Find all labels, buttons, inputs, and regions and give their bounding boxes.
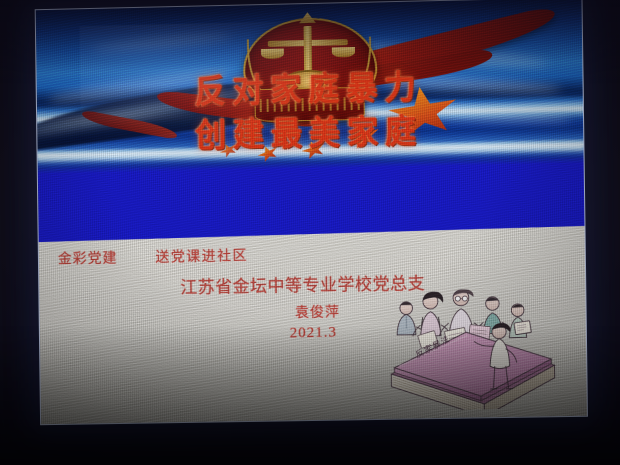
slide-surface: 反对家庭暴力 创建最美家庭 金彩党建 送党课进社区 江苏省金坛中等专业学校党总支… (35, 0, 588, 425)
presenter-label: 袁俊萍 (295, 301, 340, 322)
slide-title-block: 反对家庭暴力 创建最美家庭 (37, 78, 584, 146)
figure (397, 301, 427, 334)
pixel-grid-artifact (36, 0, 587, 424)
red-ribbon (286, 49, 495, 99)
scales-pillar (303, 26, 312, 90)
red-ribbon (156, 90, 320, 128)
cloud (36, 85, 254, 139)
scales-pan-right (332, 47, 355, 57)
emblem-disc (242, 17, 378, 110)
cloud (47, 65, 232, 108)
chinese-court-emblem-icon (237, 9, 380, 134)
scales-pan-left (261, 48, 284, 58)
slide-lower-panel: 金彩党建 送党课进社区 江苏省金坛中等专业学校党总支 袁俊萍 2021.3 (39, 226, 587, 425)
emblem-base (254, 87, 364, 122)
red-star-icon (384, 81, 462, 144)
cloud (418, 108, 572, 122)
figure (475, 296, 511, 333)
red-star-icon (255, 142, 281, 165)
screen-glare (79, 19, 364, 150)
figure (509, 303, 531, 337)
red-star-icon (299, 137, 328, 162)
book-title-text: 反家暴法 (414, 332, 452, 360)
program-label: 送党课进社区 (155, 245, 248, 267)
sea-horizon-glow (38, 140, 584, 165)
wheat-ear-icon (347, 37, 371, 93)
vignette (36, 0, 587, 424)
figure (474, 322, 517, 388)
horizon-landmass (36, 72, 321, 154)
law-book: 反家暴法 (391, 330, 555, 411)
brand-label: 金彩党建 (58, 248, 118, 269)
projection-screen: 反对家庭暴力 创建最美家庭 金彩党建 送党课进社区 江苏省金坛中等专业学校党总支… (35, 0, 588, 425)
dark-room-background: 反对家庭暴力 创建最美家庭 金彩党建 送党课进社区 江苏省金坛中等专业学校党总支… (0, 0, 620, 465)
cloud (374, 74, 561, 95)
slide-banner-image: 反对家庭暴力 创建最美家庭 (36, 0, 585, 245)
red-star-icon (345, 121, 384, 153)
emblem-gear (285, 72, 331, 90)
illustration-anti-dv-law-book: 反家暴法 (368, 283, 573, 412)
cloud (341, 40, 550, 71)
scales-beam (268, 40, 348, 47)
wheat-ear-icon (247, 39, 271, 95)
slide-title-line-1: 反对家庭暴力 (194, 68, 422, 112)
emblem-finial (299, 12, 316, 23)
cloud (90, 31, 231, 53)
figure (413, 291, 451, 336)
date-label: 2021.3 (290, 325, 337, 343)
figure (439, 289, 484, 337)
organization-label: 江苏省金坛中等专业学校党总支 (180, 269, 425, 298)
red-star-icon (217, 140, 239, 160)
red-ribbon (80, 109, 178, 139)
red-ribbon (276, 5, 559, 102)
slide-title-line-2: 创建最美家庭 (195, 113, 423, 156)
scanline-artifact (36, 0, 587, 424)
